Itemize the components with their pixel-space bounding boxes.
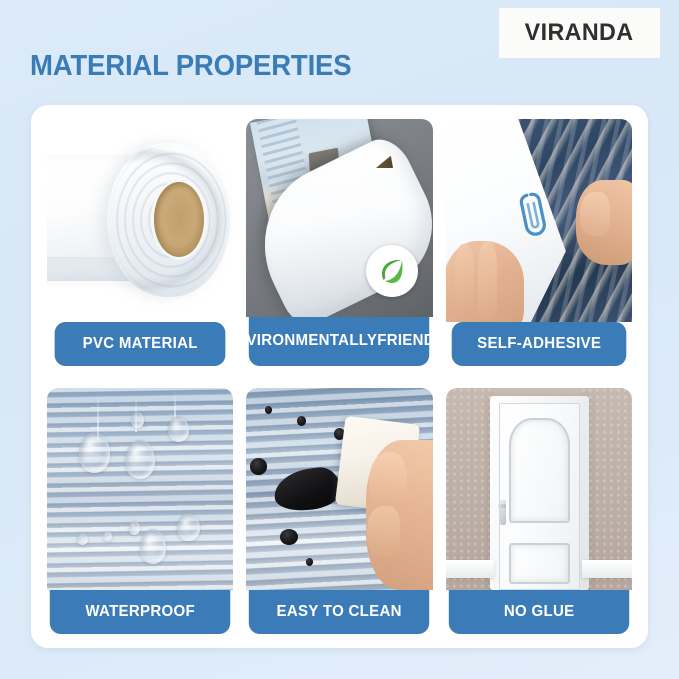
feature-label-waterproof: WATERPROOF	[50, 590, 231, 634]
baseboard-left	[446, 560, 494, 578]
water-droplet	[125, 440, 155, 478]
door-frame	[490, 396, 589, 590]
brand-badge: VIRANDA	[499, 8, 660, 58]
water-droplet	[77, 533, 88, 545]
feature-cell-environmentally-friendly[interactable]: ENVIRONMENTALLY FRIENDLY	[246, 119, 432, 366]
baseboard-right	[582, 560, 632, 578]
feature-cell-no-glue[interactable]: NO GLUE	[446, 388, 632, 635]
features-grid: PVC MATERIAL	[47, 119, 632, 634]
water-droplet	[103, 531, 112, 541]
feature-cell-easy-to-clean[interactable]: EASY TO CLEAN	[246, 388, 432, 635]
feature-label-line-1: ENVIRONMENTALLY	[246, 333, 377, 349]
pvc-roll-image	[47, 119, 233, 322]
waterproof-image	[47, 388, 233, 591]
self-adhesive-image	[446, 119, 632, 322]
page-title: MATERIAL PROPERTIES	[30, 50, 351, 83]
feature-label-environmentally-friendly: ENVIRONMENTALLY FRIENDLY	[249, 317, 430, 366]
easy-to-clean-image	[246, 388, 432, 591]
feature-cell-waterproof[interactable]: WATERPROOF	[47, 388, 233, 635]
door-slab	[499, 403, 580, 590]
stain-spot	[265, 406, 272, 414]
feature-cell-self-adhesive[interactable]: SELF-ADHESIVE	[446, 119, 632, 366]
stain-spot	[250, 458, 267, 474]
no-glue-door-image	[446, 388, 632, 591]
stain-smear	[272, 465, 344, 513]
right-hand	[576, 180, 632, 265]
hand	[366, 440, 433, 590]
header: MATERIAL PROPERTIES VIRANDA	[0, 0, 679, 105]
brand-name: VIRANDA	[525, 19, 634, 47]
left-hand	[446, 241, 524, 322]
water-droplet	[79, 432, 111, 473]
water-droplet	[177, 513, 199, 541]
eco-sheet-image	[246, 119, 432, 317]
feature-label-line-2: FRIENDLY	[378, 333, 433, 349]
feature-label-self-adhesive: SELF-ADHESIVE	[451, 322, 626, 366]
water-droplet	[140, 529, 166, 563]
feature-cell-pvc-material[interactable]: PVC MATERIAL	[47, 119, 233, 366]
stain-spot	[297, 416, 306, 426]
door-panel-top	[509, 418, 571, 523]
water-droplet	[168, 416, 188, 442]
door-handle	[500, 500, 506, 524]
leaf-icon	[366, 245, 418, 297]
door-panel-bottom	[509, 543, 571, 584]
pvc-cardboard-core	[154, 182, 204, 257]
feature-label-easy-to-clean: EASY TO CLEAN	[249, 590, 430, 634]
water-droplet	[131, 412, 144, 428]
stain-spot	[306, 558, 313, 566]
water-droplet	[129, 521, 140, 535]
stain-spot	[280, 529, 299, 545]
eco-sheet-corner-tip	[375, 155, 397, 177]
feature-label-no-glue: NO GLUE	[448, 590, 629, 634]
features-card: PVC MATERIAL	[31, 105, 648, 648]
feature-label-pvc-material: PVC MATERIAL	[55, 322, 226, 366]
